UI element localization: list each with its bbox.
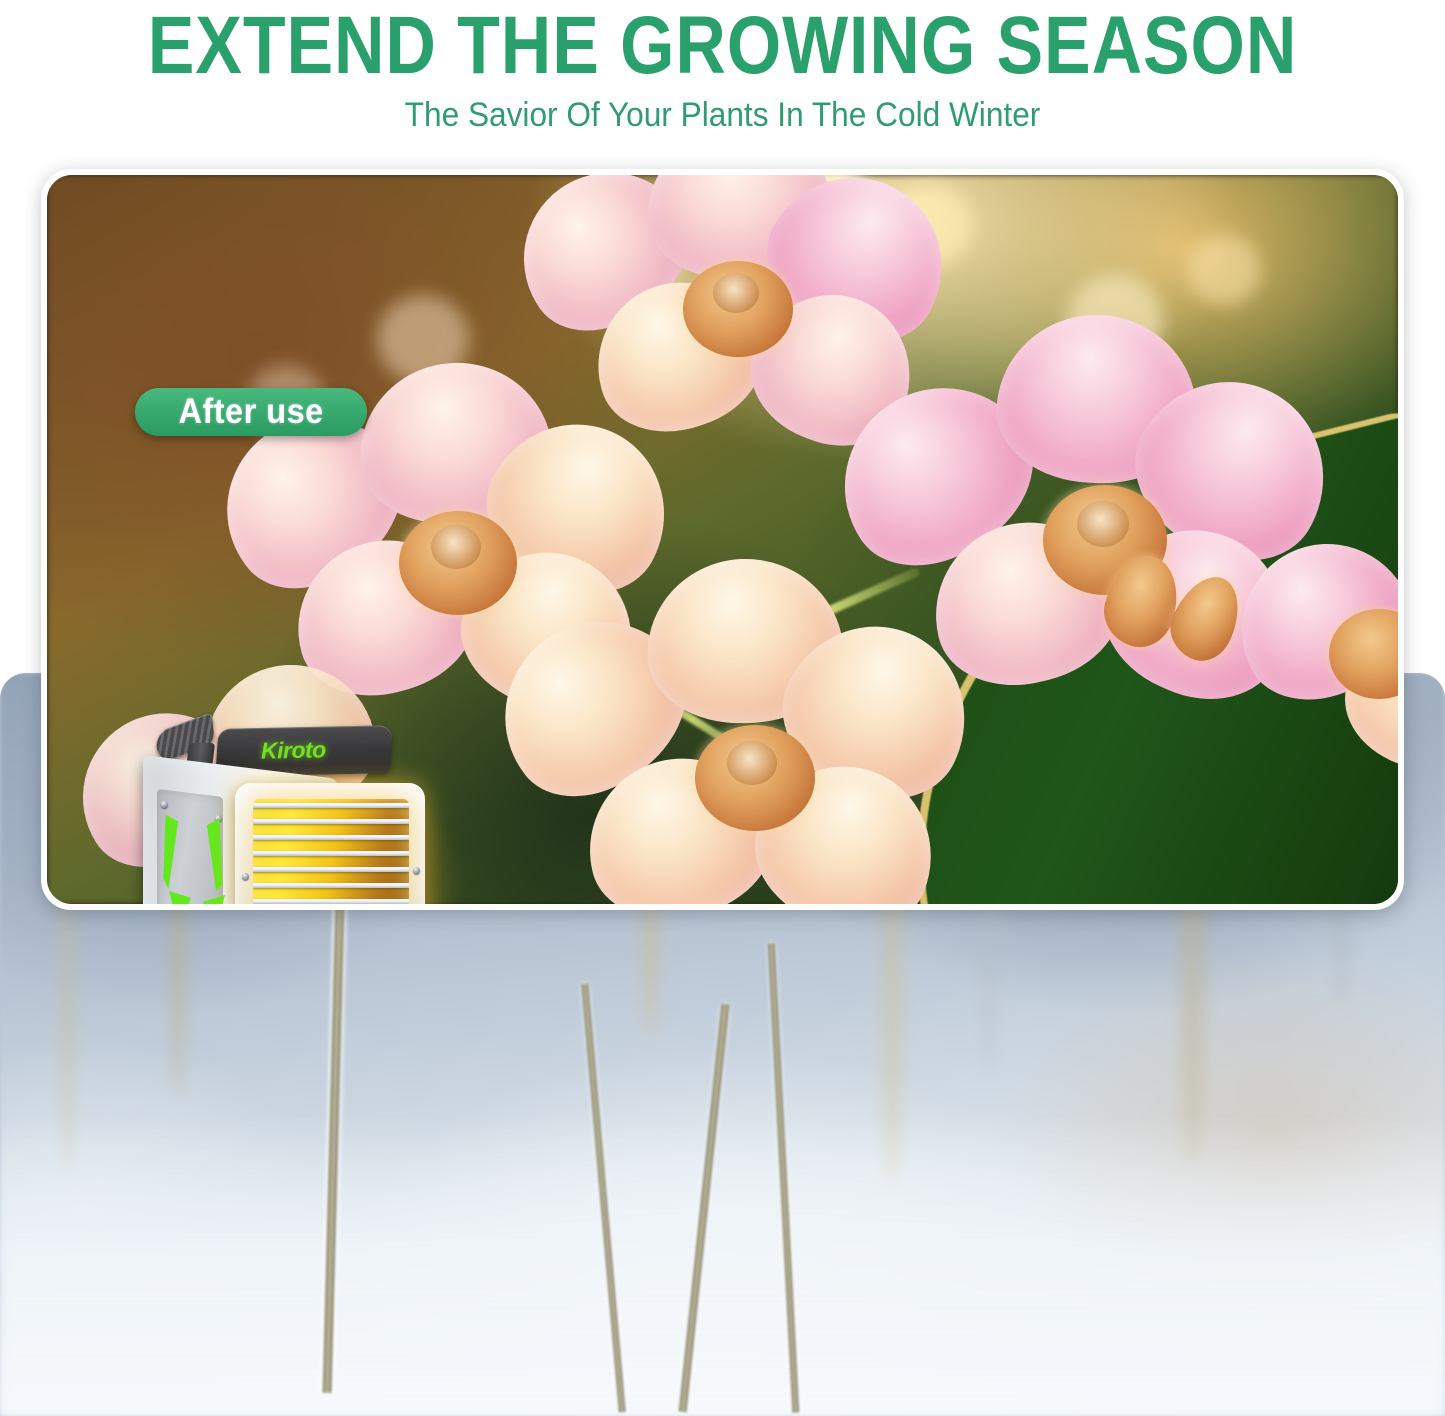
after-use-badge: After use bbox=[135, 388, 367, 436]
heater-grille bbox=[253, 799, 409, 904]
screw bbox=[161, 801, 168, 808]
product-heater: Kiroto bbox=[143, 715, 443, 904]
page-subtitle: The Savior Of Your Plants In The Cold Wi… bbox=[51, 96, 1395, 134]
bokeh-light bbox=[1187, 235, 1261, 305]
page-title: EXTEND THE GROWING SEASON bbox=[58, 4, 1387, 88]
screw bbox=[242, 873, 249, 880]
after-use-badge-label: After use bbox=[178, 392, 323, 432]
snow-ground bbox=[0, 1116, 1445, 1416]
screw bbox=[413, 867, 420, 874]
after-use-panel: Kiroto bbox=[41, 169, 1404, 910]
product-brand-label: Kiroto bbox=[261, 736, 326, 764]
marketing-banner: EXTEND THE GROWING SEASON The Savior Of … bbox=[0, 0, 1445, 1416]
